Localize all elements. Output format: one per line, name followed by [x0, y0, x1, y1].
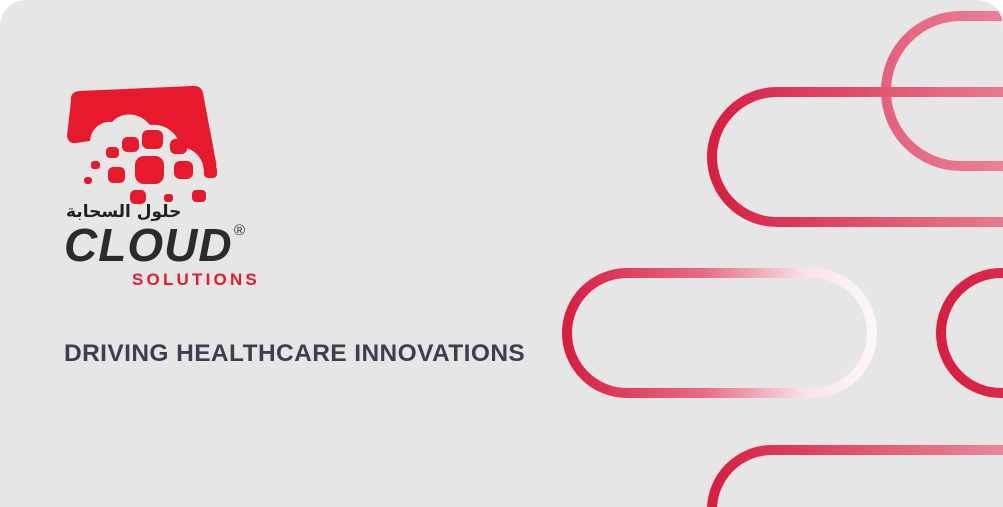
brand-wordmark: CLOUD [64, 222, 233, 268]
slide-canvas: حلول السحابة CLOUD ® SOLUTIONS DRIVING H… [0, 0, 1003, 507]
brand-logo: حلول السحابة CLOUD ® SOLUTIONS [64, 84, 264, 208]
brand-sub-wordmark: SOLUTIONS [132, 270, 260, 290]
pill-middle-left [567, 273, 872, 393]
pill-bottom [712, 450, 1003, 507]
registered-trademark-icon: ® [234, 222, 245, 239]
pill-middle-right [941, 273, 1003, 393]
pill-upper-main [712, 92, 1003, 222]
page-title: DRIVING HEALTHCARE INNOVATIONS [64, 340, 525, 368]
cloud-pixel-logo-icon [64, 84, 254, 204]
pill-top-right-small [886, 16, 1003, 166]
cloud-pixel-logo-svg [64, 84, 254, 204]
